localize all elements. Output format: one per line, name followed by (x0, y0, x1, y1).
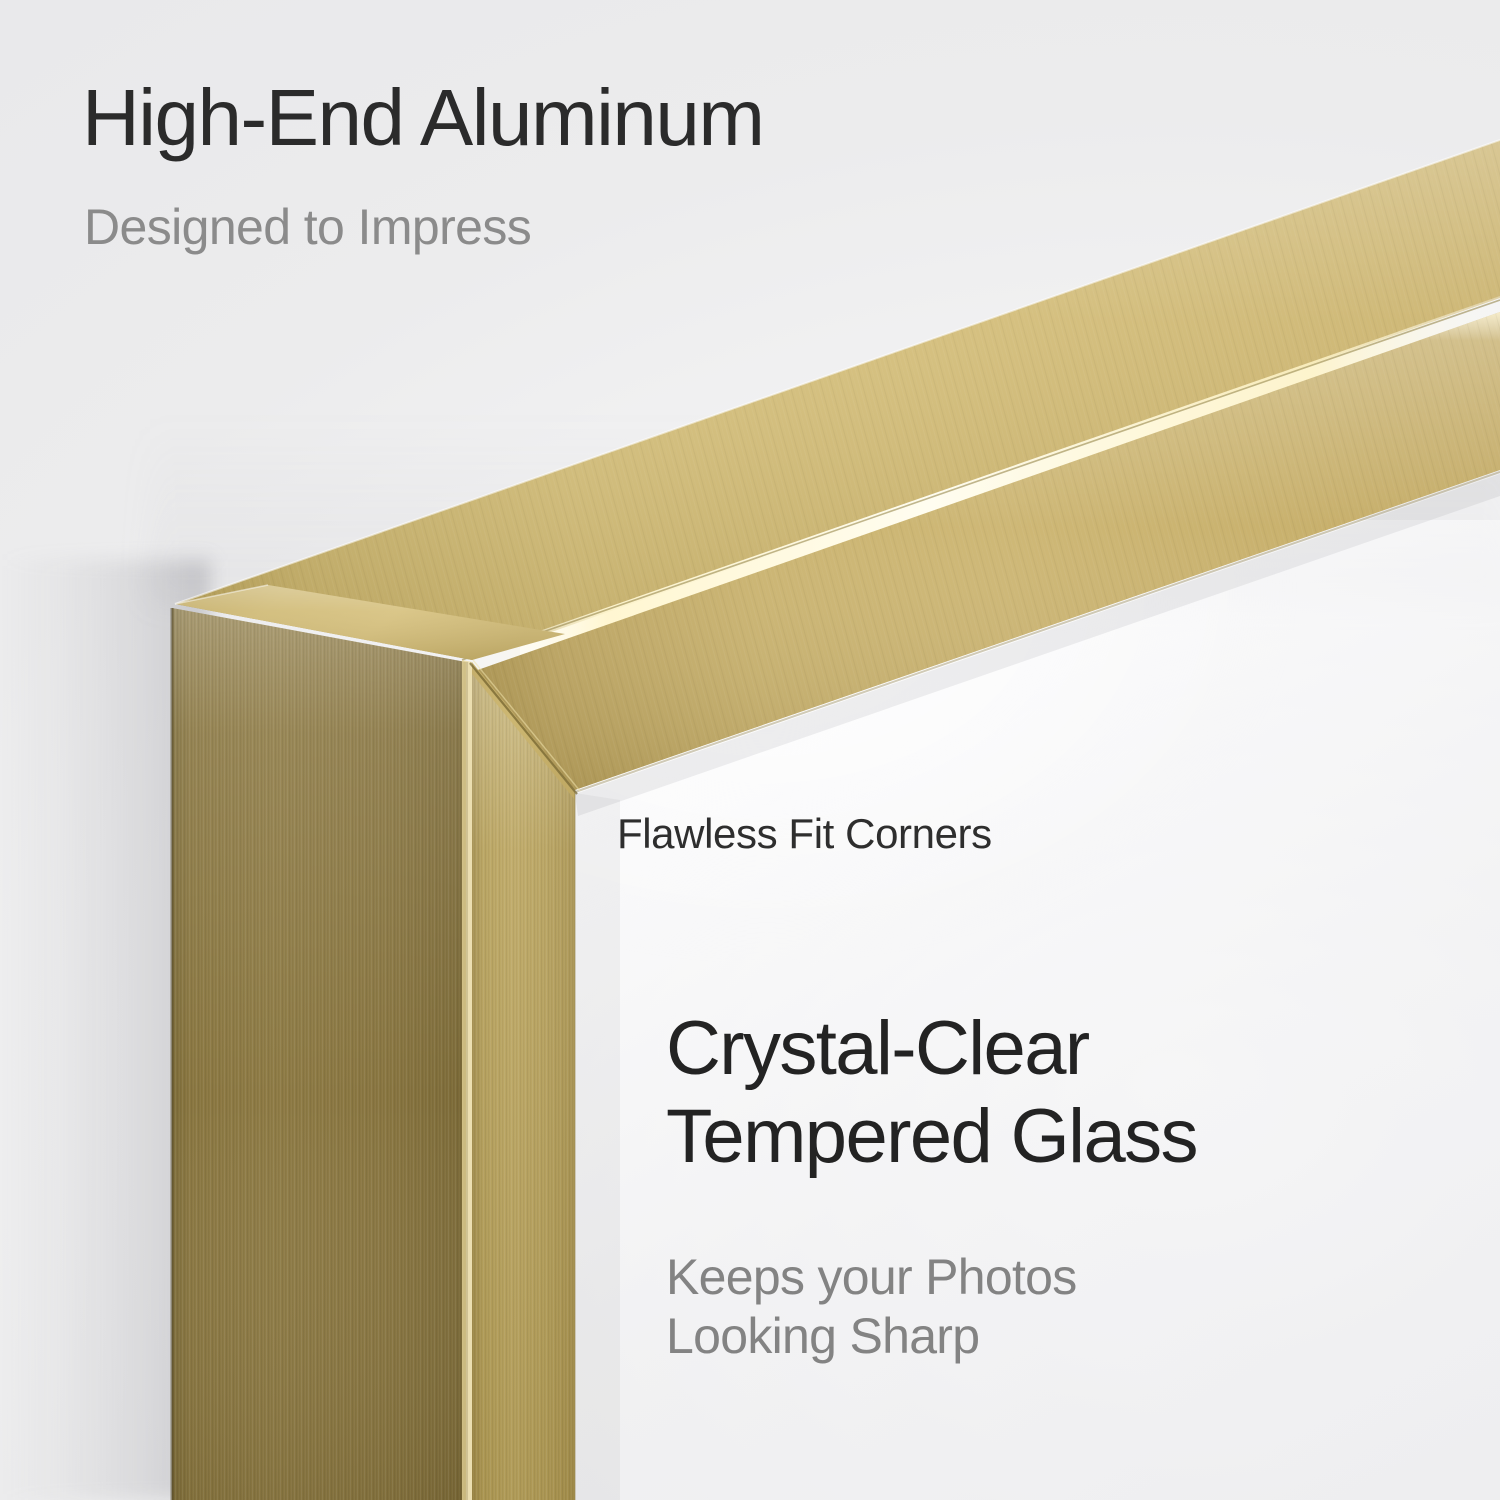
feature-heading: Crystal-Clear Tempered Glass (666, 1005, 1197, 1181)
product-feature-image: High-End Aluminum Designed to Impress Fl… (0, 0, 1500, 1500)
feature-subheading-line-1: Keeps your Photos (666, 1248, 1077, 1307)
frame-left-corner-edge (462, 660, 472, 1500)
page-title: High-End Aluminum (82, 72, 764, 164)
feature-heading-line-1: Crystal-Clear (666, 1005, 1197, 1093)
frame-left-cast-shadow (575, 793, 620, 1500)
feature-subheading: Keeps your Photos Looking Sharp (666, 1248, 1077, 1366)
feature-subheading-line-2: Looking Sharp (666, 1307, 1077, 1366)
frame-left-rail-outer-face (160, 580, 480, 1500)
page-subtitle: Designed to Impress (84, 198, 531, 256)
callout-flawless-fit-corners: Flawless Fit Corners (617, 810, 992, 858)
feature-heading-line-2: Tempered Glass (666, 1093, 1197, 1181)
